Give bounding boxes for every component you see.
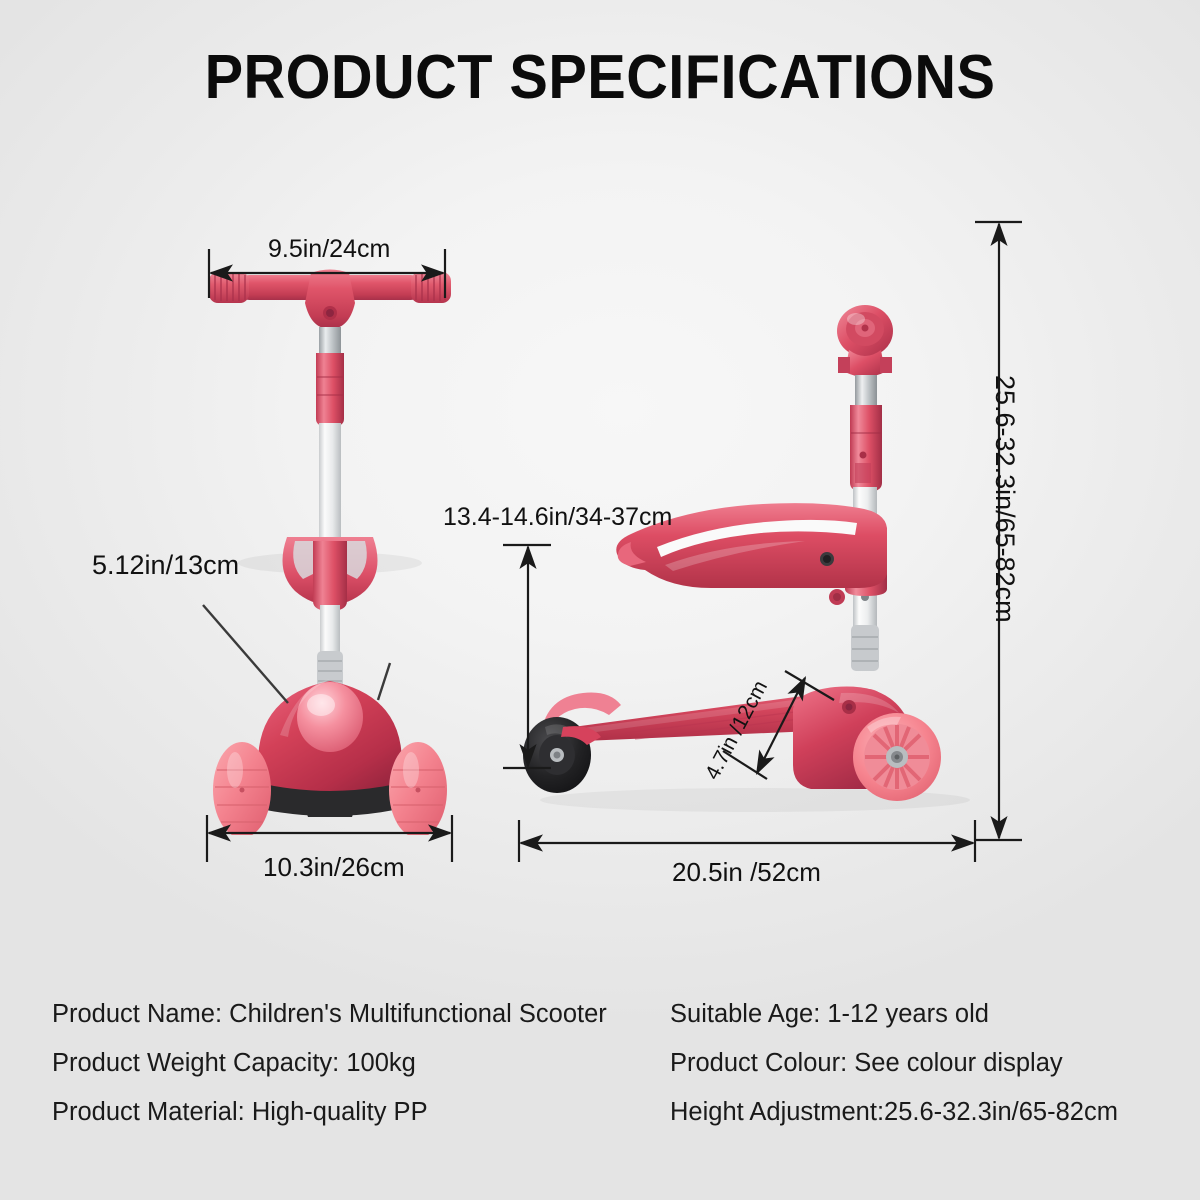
label-handlebar-width: 9.5in/24cm — [268, 235, 390, 264]
spec-suitable-age: Suitable Age: 1-12 years old — [670, 1000, 989, 1029]
label-deck-height: 5.12in/13cm — [92, 550, 239, 581]
product-spec-sheet: PRODUCT SPECIFICATIONS — [0, 0, 1200, 1200]
label-base-width: 10.3in/26cm — [263, 852, 405, 883]
page-title: PRODUCT SPECIFICATIONS — [42, 42, 1158, 113]
label-handlebar-height: 25.6-32.3in/65-82cm — [989, 375, 1020, 623]
label-total-length: 20.5in /52cm — [672, 857, 821, 888]
spec-colour: Product Colour: See colour display — [670, 1049, 1063, 1078]
spec-material: Product Material: High-quality PP — [52, 1098, 428, 1127]
label-seat-height: 13.4-14.6in/34-37cm — [443, 503, 672, 532]
spec-product-name: Product Name: Children's Multifunctional… — [52, 1000, 607, 1029]
spec-height-adjustment: Height Adjustment:25.6-32.3in/65-82cm — [670, 1098, 1118, 1127]
side-view-illustration — [505, 295, 985, 840]
spec-weight-capacity: Product Weight Capacity: 100kg — [52, 1049, 416, 1078]
